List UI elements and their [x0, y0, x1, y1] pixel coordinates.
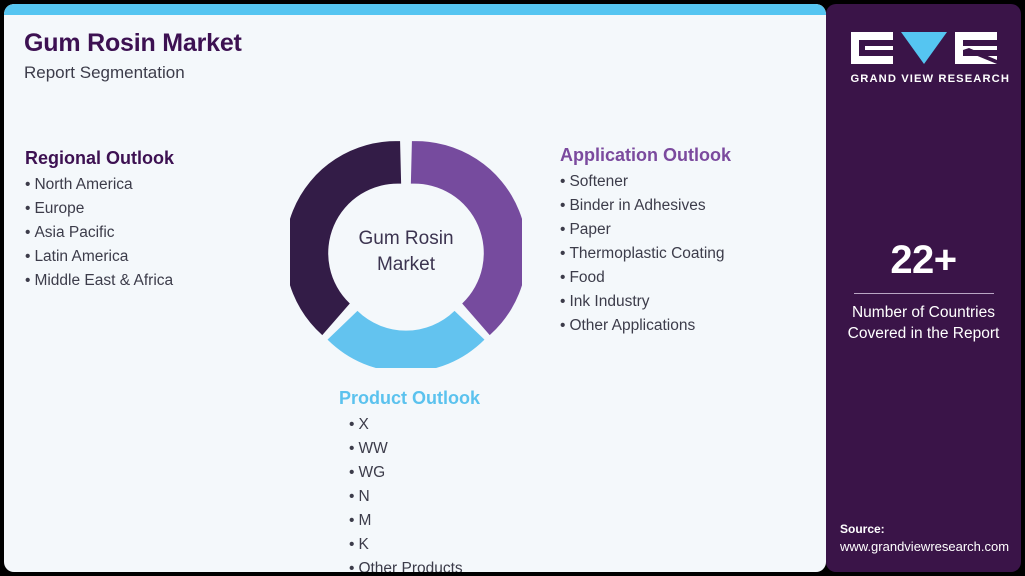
- list-item: •M: [349, 509, 480, 533]
- donut-segment-application: [411, 141, 522, 335]
- bullet-icon: •: [349, 488, 354, 505]
- regional-outlook-heading: Regional Outlook: [25, 147, 174, 170]
- list-item: •X: [349, 413, 480, 437]
- list-item: •Europe: [25, 197, 174, 221]
- source-url[interactable]: www.grandviewresearch.com: [840, 538, 1020, 557]
- bullet-icon: •: [560, 173, 565, 190]
- side-panel: GRAND VIEW RESEARCH 22+ Number of Countr…: [826, 4, 1021, 572]
- bullet-icon: •: [560, 221, 565, 238]
- bullet-icon: •: [349, 512, 354, 529]
- brand-logo: GRAND VIEW RESEARCH: [851, 30, 997, 85]
- list-item: •Middle East & Africa: [25, 269, 174, 293]
- product-outlook-heading: Product Outlook: [339, 387, 480, 410]
- stat-value: 22+: [826, 240, 1021, 280]
- regional-outlook-block: Regional Outlook •North America •Europe …: [25, 147, 174, 293]
- list-item-label: Ink Industry: [569, 293, 649, 310]
- infographic-root: Gum Rosin Market Report Segmentation Reg…: [0, 0, 1025, 576]
- stat-label-line1: Number of Countries: [826, 303, 1021, 324]
- donut-segment-product: [328, 311, 485, 368]
- list-item: •Other Products: [349, 557, 480, 572]
- list-item: •Ink Industry: [560, 290, 731, 314]
- source-block: Source: www.grandviewresearch.com: [840, 520, 1020, 557]
- bullet-icon: •: [25, 224, 30, 241]
- stat-label-line2: Covered in the Report: [826, 324, 1021, 345]
- bullet-icon: •: [25, 200, 30, 217]
- list-item: •Thermoplastic Coating: [560, 242, 731, 266]
- bullet-icon: •: [349, 416, 354, 433]
- bullet-icon: •: [560, 245, 565, 262]
- brand-logo-text: GRAND VIEW RESEARCH: [851, 73, 997, 85]
- bullet-icon: •: [560, 269, 565, 286]
- application-outlook-block: Application Outlook •Softener •Binder in…: [560, 144, 731, 338]
- bullet-icon: •: [25, 176, 30, 193]
- product-outlook-list: •X •WW •WG •N •M •K •Other Products: [339, 413, 480, 573]
- bullet-icon: •: [560, 317, 565, 334]
- list-item-label: Paper: [569, 221, 610, 238]
- application-outlook-list: •Softener •Binder in Adhesives •Paper •T…: [560, 170, 731, 338]
- list-item-label: Asia Pacific: [34, 224, 114, 241]
- segmentation-donut-chart: Gum Rosin Market: [290, 136, 522, 368]
- main-panel: Gum Rosin Market Report Segmentation Reg…: [4, 4, 826, 572]
- application-outlook-heading: Application Outlook: [560, 144, 731, 167]
- product-outlook-block: Product Outlook •X •WW •WG •N •M •K •Oth…: [339, 387, 480, 572]
- bullet-icon: •: [25, 248, 30, 265]
- list-item-label: M: [358, 512, 371, 529]
- gvr-logo-icon: [851, 30, 997, 66]
- list-item-label: Europe: [34, 200, 84, 217]
- regional-outlook-list: •North America •Europe •Asia Pacific •La…: [25, 173, 174, 293]
- list-item-label: WW: [358, 440, 387, 457]
- list-item-label: Other Applications: [569, 317, 695, 334]
- source-title: Source:: [840, 520, 1020, 538]
- list-item: •K: [349, 533, 480, 557]
- list-item-label: Latin America: [34, 248, 128, 265]
- bullet-icon: •: [349, 440, 354, 457]
- page-subtitle: Report Segmentation: [24, 63, 242, 83]
- list-item: •North America: [25, 173, 174, 197]
- list-item-label: North America: [34, 176, 132, 193]
- top-accent-bar: [4, 4, 826, 15]
- list-item-label: Food: [569, 269, 604, 286]
- list-item-label: Thermoplastic Coating: [569, 245, 724, 262]
- list-item-label: Softener: [569, 173, 628, 190]
- list-item: •N: [349, 485, 480, 509]
- bullet-icon: •: [25, 272, 30, 289]
- bullet-icon: •: [349, 536, 354, 553]
- list-item: •WW: [349, 437, 480, 461]
- list-item: •Latin America: [25, 245, 174, 269]
- bullet-icon: •: [349, 560, 354, 572]
- bullet-icon: •: [560, 293, 565, 310]
- bullet-icon: •: [349, 464, 354, 481]
- list-item-label: Binder in Adhesives: [569, 197, 705, 214]
- list-item-label: X: [358, 416, 368, 433]
- list-item-label: N: [358, 488, 369, 505]
- list-item: •Asia Pacific: [25, 221, 174, 245]
- bullet-icon: •: [560, 197, 565, 214]
- header: Gum Rosin Market Report Segmentation: [24, 28, 242, 83]
- list-item: •Paper: [560, 218, 731, 242]
- list-item-label: Other Products: [358, 560, 462, 572]
- list-item-label: K: [358, 536, 368, 553]
- list-item: •Binder in Adhesives: [560, 194, 731, 218]
- donut-segment-regional: [290, 141, 401, 335]
- page-title: Gum Rosin Market: [24, 28, 242, 58]
- list-item-label: Middle East & Africa: [34, 272, 173, 289]
- donut-svg: [290, 136, 522, 368]
- list-item: •Softener: [560, 170, 731, 194]
- list-item: •Food: [560, 266, 731, 290]
- list-item: •WG: [349, 461, 480, 485]
- list-item: •Other Applications: [560, 314, 731, 338]
- country-count-stat: 22+ Number of Countries Covered in the R…: [826, 240, 1021, 345]
- list-item-label: WG: [358, 464, 385, 481]
- stat-divider: [854, 293, 994, 294]
